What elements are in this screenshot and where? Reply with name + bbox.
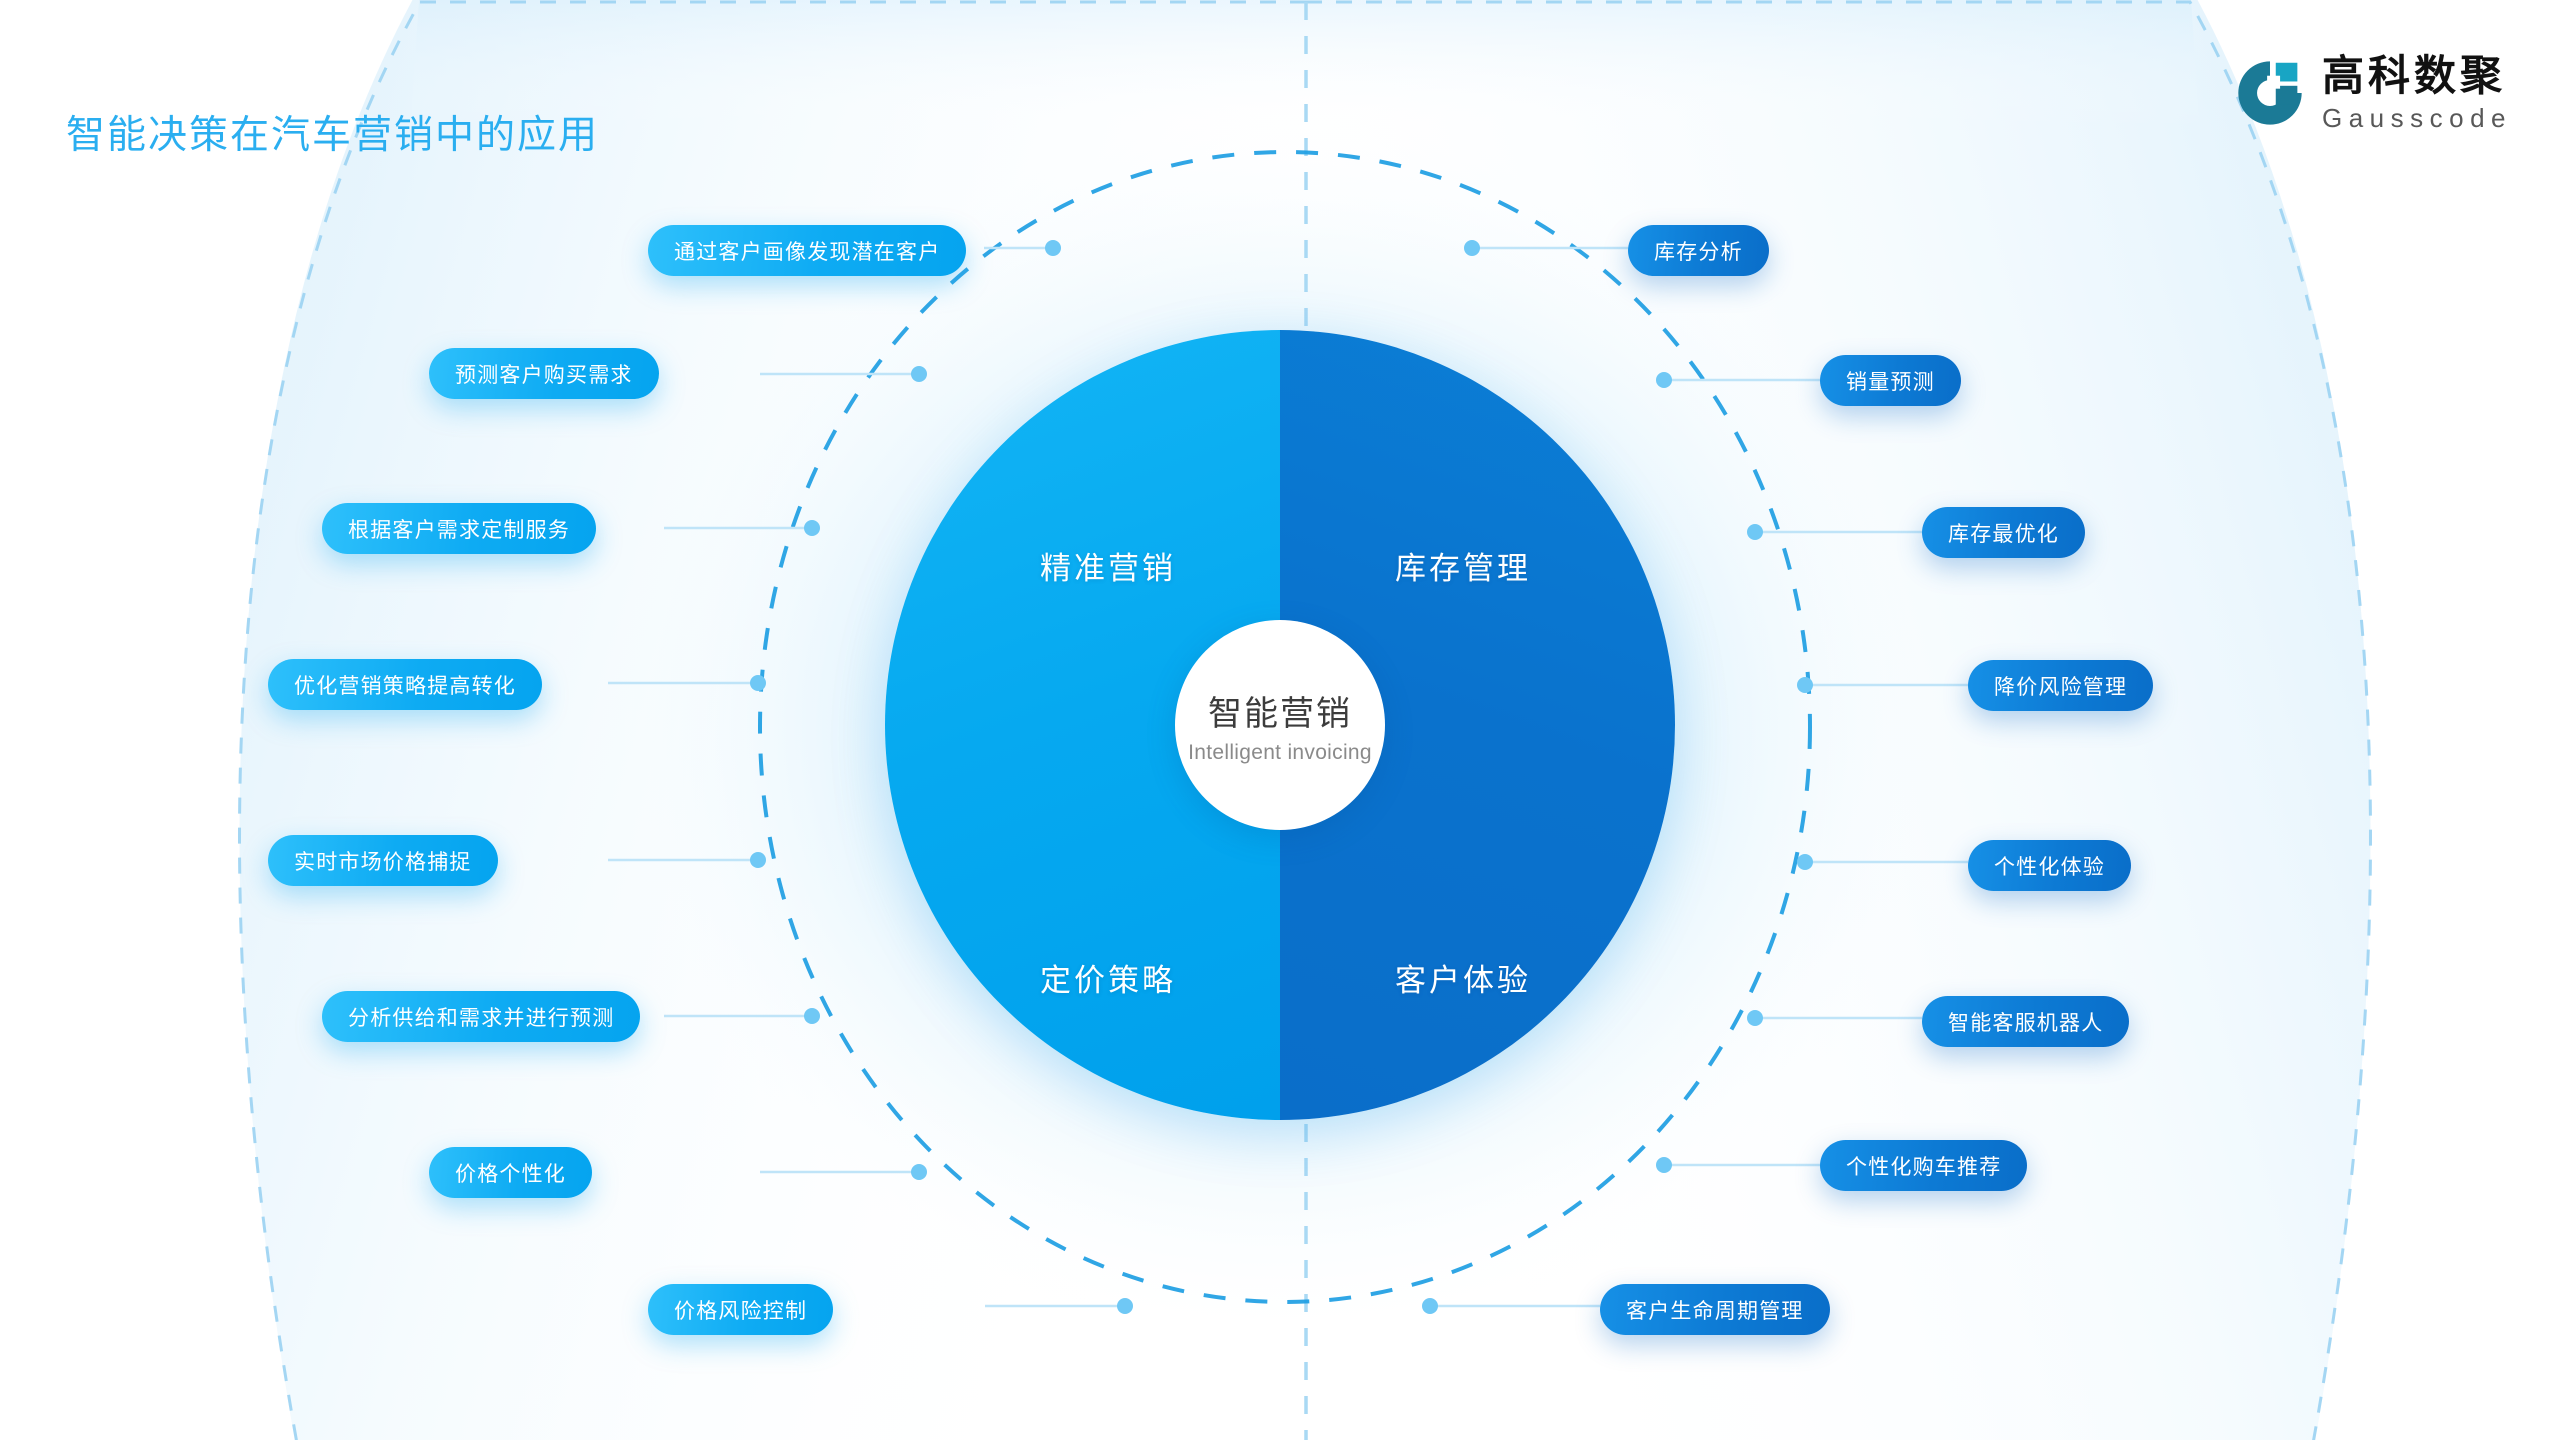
quadrant-label-marketing: 精准营销 — [1040, 543, 1176, 588]
connector-node-right-3 — [1747, 524, 1763, 540]
page-title: 智能决策在汽车营销中的应用 — [66, 104, 599, 160]
connector-node-left-3 — [804, 520, 820, 536]
connector-node-left-6 — [804, 1008, 820, 1024]
left-pill-6[interactable]: 分析供给和需求并进行预测 — [322, 991, 640, 1042]
right-pill-4[interactable]: 降价风险管理 — [1968, 660, 2153, 711]
left-pill-7[interactable]: 价格个性化 — [429, 1147, 592, 1198]
connector-node-right-1 — [1464, 240, 1480, 256]
left-pill-5[interactable]: 实时市场价格捕捉 — [268, 835, 498, 886]
connector-node-left-7 — [911, 1164, 927, 1180]
right-pill-1[interactable]: 库存分析 — [1628, 225, 1769, 276]
connector-node-left-8 — [1117, 1298, 1133, 1314]
right-pill-2[interactable]: 销量预测 — [1820, 355, 1961, 406]
connector-node-right-8 — [1422, 1298, 1438, 1314]
logo-title-en: Gausscode — [2322, 105, 2512, 131]
infographic-canvas: 智能决策在汽车营销中的应用 高科数聚 Gausscode 精准营销 库存管理 定… — [0, 0, 2560, 1440]
logo-title-cn: 高科数聚 — [2322, 55, 2512, 97]
gausscode-logo-icon — [2234, 57, 2306, 129]
center-hub: 智能营销 Intelligent invoicing — [1175, 620, 1385, 830]
connector-node-right-6 — [1747, 1010, 1763, 1026]
connector-node-right-4 — [1797, 677, 1813, 693]
quadrant-label-pricing: 定价策略 — [1040, 955, 1176, 1000]
right-pill-7[interactable]: 个性化购车推荐 — [1820, 1140, 2027, 1191]
connector-node-right-7 — [1656, 1157, 1672, 1173]
connector-node-left-1 — [1045, 240, 1061, 256]
left-pill-8[interactable]: 价格风险控制 — [648, 1284, 833, 1335]
connector-node-right-5 — [1797, 854, 1813, 870]
top-band — [410, 0, 2200, 130]
quadrant-label-experience: 客户体验 — [1395, 955, 1531, 1000]
right-pill-5[interactable]: 个性化体验 — [1968, 840, 2131, 891]
right-pill-3[interactable]: 库存最优化 — [1922, 507, 2085, 558]
connector-node-left-4 — [750, 675, 766, 691]
right-pill-8[interactable]: 客户生命周期管理 — [1600, 1284, 1830, 1335]
left-pill-3[interactable]: 根据客户需求定制服务 — [322, 503, 596, 554]
left-pill-2[interactable]: 预测客户购买需求 — [429, 348, 659, 399]
connector-node-left-5 — [750, 852, 766, 868]
quadrant-label-inventory: 库存管理 — [1395, 543, 1531, 588]
left-pill-4[interactable]: 优化营销策略提高转化 — [268, 659, 542, 710]
hub-title-cn: 智能营销 — [1208, 686, 1352, 735]
hub-title-en: Intelligent invoicing — [1188, 741, 1372, 765]
left-pill-1[interactable]: 通过客户画像发现潜在客户 — [648, 225, 966, 276]
right-pill-6[interactable]: 智能客服机器人 — [1922, 996, 2129, 1047]
brand-logo: 高科数聚 Gausscode — [2234, 55, 2512, 131]
